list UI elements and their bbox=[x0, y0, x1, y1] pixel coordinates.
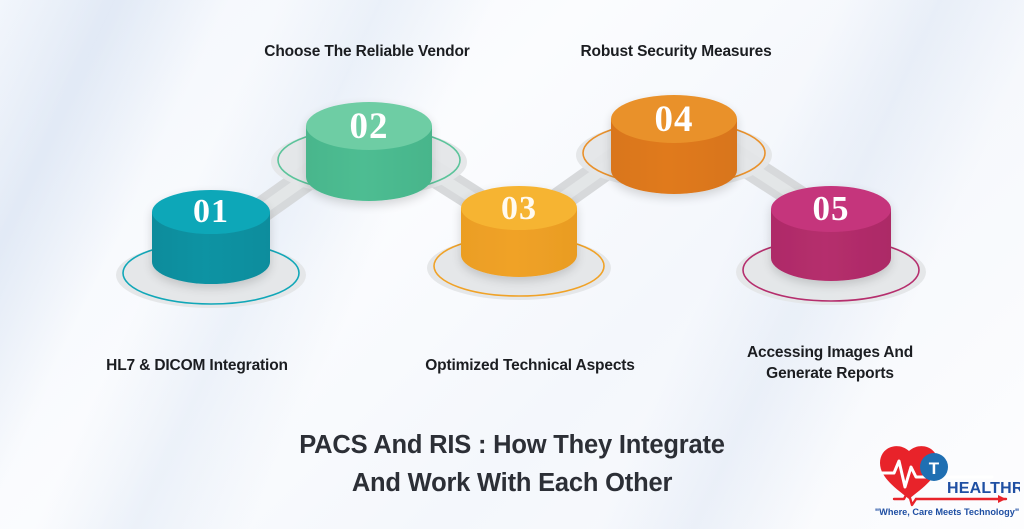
step-number-05: 05 bbox=[813, 189, 850, 228]
step-label-03: Optimized Technical Aspects bbox=[425, 356, 635, 377]
infographic-canvas: 01 02 03 bbox=[0, 0, 1024, 529]
brand-tagline: "Where, Care Meets Technology" bbox=[875, 507, 1019, 517]
badge-t-icon: T bbox=[920, 453, 948, 481]
brand-logo[interactable]: T HEALTHRAY "Where, Care Meets Technolog… bbox=[874, 443, 1020, 525]
step-number-04: 04 bbox=[655, 99, 694, 140]
step-label-04: Robust Security Measures bbox=[580, 42, 771, 63]
step-number-01: 01 bbox=[193, 193, 229, 230]
step-node-04[interactable]: 04 bbox=[576, 95, 772, 194]
step-node-03[interactable]: 03 bbox=[427, 186, 611, 300]
brand-name: HEALTHRAY bbox=[947, 480, 1020, 497]
badge-letter: T bbox=[929, 459, 940, 478]
step-label-05: Accessing Images And Generate Reports bbox=[747, 343, 913, 385]
step-number-03: 03 bbox=[501, 190, 537, 227]
step-label-02: Choose The Reliable Vendor bbox=[264, 42, 469, 63]
step-node-05[interactable]: 05 bbox=[736, 186, 926, 305]
page-title: PACS And RIS : How They Integrate And Wo… bbox=[132, 427, 892, 502]
step-label-01: HL7 & DICOM Integration bbox=[106, 356, 288, 377]
step-number-02: 02 bbox=[350, 106, 389, 147]
step-node-02[interactable]: 02 bbox=[271, 102, 467, 201]
